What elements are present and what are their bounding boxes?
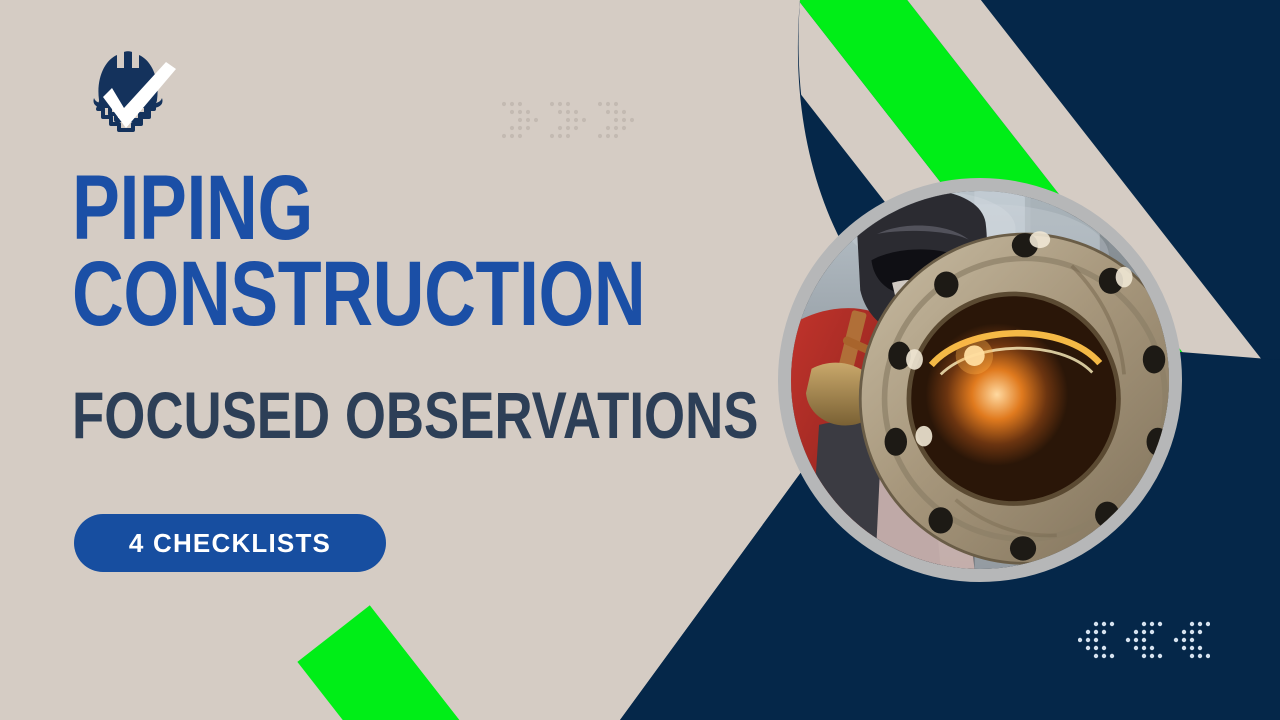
hard-hat-check-gear-icon bbox=[72, 42, 184, 142]
title-line-2: Construction bbox=[72, 252, 571, 338]
dot-chevrons-right bbox=[500, 100, 640, 148]
brand-logo[interactable] bbox=[72, 42, 184, 142]
dot-chevrons-left bbox=[1078, 620, 1210, 670]
title-line-1: Piping bbox=[72, 166, 571, 252]
welder-photo bbox=[778, 178, 1182, 582]
chevron-left-dot-pattern-icon bbox=[1078, 620, 1210, 670]
page-subtitle: Focused Observations bbox=[72, 382, 632, 448]
chevron-right-dot-pattern-icon bbox=[500, 100, 640, 148]
page-title: Piping Construction bbox=[72, 166, 712, 337]
checklist-count-badge[interactable]: 4 Checklists bbox=[74, 514, 386, 572]
welder-pipe-flange-illustration bbox=[791, 191, 1169, 569]
slide-canvas: Piping Construction Focused Observations… bbox=[0, 0, 1280, 720]
